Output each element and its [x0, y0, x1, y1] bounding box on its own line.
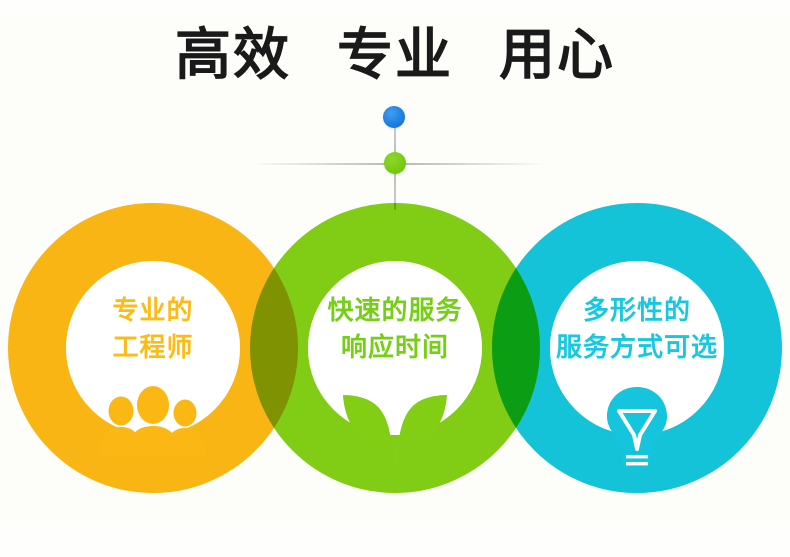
card-response-time-line-2: 响应时间 [275, 330, 515, 367]
card-service-options-line-2: 服务方式可选 [517, 330, 757, 367]
card-service-options-text: 多形性的 服务方式可选 [517, 293, 757, 367]
card-engineers[interactable]: 专业的 工程师 [33, 203, 273, 493]
card-service-options[interactable]: 多形性的 服务方式可选 [517, 203, 757, 493]
card-response-time-text: 快速的服务 响应时间 [275, 293, 515, 367]
infographic-canvas: 高效专业用心 专业的 工程师 [0, 0, 790, 557]
lightbulb-icon [517, 385, 757, 471]
card-service-options-line-1: 多形性的 [517, 293, 757, 330]
card-engineers-line-2: 工程师 [33, 330, 273, 367]
card-response-time-line-1: 快速的服务 [275, 293, 515, 330]
sprout-leaf-icon [275, 385, 515, 471]
card-response-time[interactable]: 快速的服务 响应时间 [275, 203, 515, 493]
card-engineers-line-1: 专业的 [33, 293, 273, 330]
people-group-icon [33, 385, 273, 471]
card-engineers-text: 专业的 工程师 [33, 293, 273, 367]
